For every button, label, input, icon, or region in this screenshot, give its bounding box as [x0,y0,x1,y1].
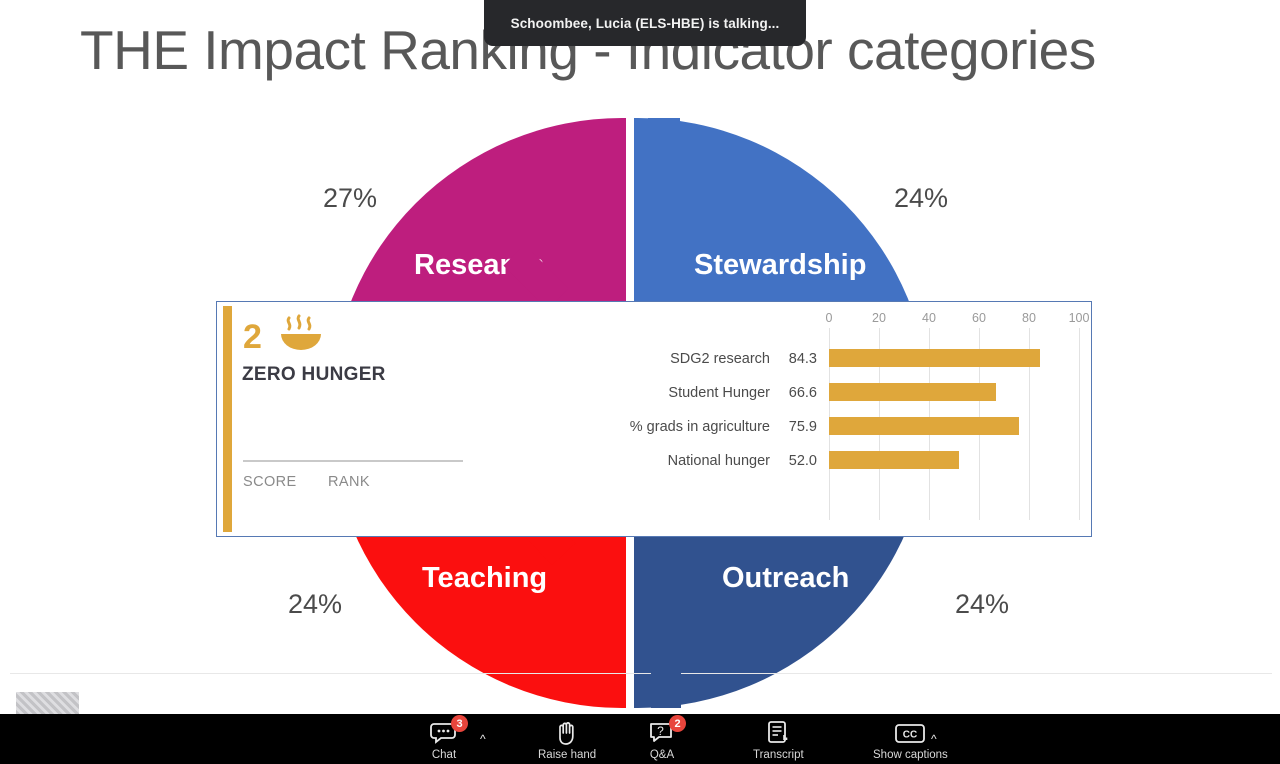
chart-bar [829,417,1019,435]
sdg-rank-label: RANK [328,474,370,490]
chart-row: SDG2 research84.3 [547,344,1092,378]
wheel-label-stewardship: Stewardship [694,249,866,282]
chart-category-label: National hunger [668,453,770,469]
sdg-number: 2 [243,320,262,354]
active-speaker-toast: Schoombee, Lucia (ELS-HBE) is talking... [484,0,806,46]
chart-value-label: 52.0 [779,453,817,469]
wheel-label-teaching: Teaching [422,562,547,595]
toolbar-button-raise-hand[interactable]: Raise hand [538,718,596,764]
qanda-icon: ? 2 [645,718,679,748]
svg-text:?: ? [657,724,664,738]
chart-category-label: Student Hunger [668,385,770,401]
chart-row: Student Hunger66.6 [547,378,1092,412]
qanda-badge: 2 [669,715,686,732]
wheel-label-research: Research [414,249,545,282]
chart-xtick-label: 80 [1022,311,1036,325]
caption-chevron-up-icon[interactable]: ^ [931,732,937,746]
redacted-logo [16,692,79,714]
sdg-indicator-panel: 2 ZERO HUNGER SCORE RANK 020406080100 SD… [216,301,1092,537]
toolbar-label-raise-hand: Raise hand [538,749,596,761]
chart-row: % grads in agriculture75.9 [547,412,1092,446]
toolbar-label-closed-caption: Show captions [873,749,948,761]
closed-caption-icon: CC [893,718,927,748]
toolbar-button-qanda[interactable]: ? 2 Q&A [645,718,679,764]
toolbar-label-transcript: Transcript [753,749,804,761]
chart-category-label: SDG2 research [670,351,770,367]
chat-icon: 3 [427,718,461,748]
chart-xtick-label: 40 [922,311,936,325]
sdg-title: ZERO HUNGER [242,364,386,386]
chart-bar [829,383,996,401]
meeting-toolbar: 3 Chat ^ Raise hand ? 2 Q&A [0,714,1280,764]
chart-xtick-label: 0 [826,311,833,325]
percent-teaching: 24% [288,589,342,620]
chart-bar [829,451,959,469]
toolbar-button-transcript[interactable]: Transcript [753,718,804,764]
chart-row: National hunger52.0 [547,446,1092,480]
percent-stewardship: 24% [894,183,948,214]
chat-chevron-up-icon[interactable]: ^ [480,732,486,746]
toolbar-label-chat: Chat [432,749,456,761]
chart-value-label: 75.9 [779,419,817,435]
bowl-steam-icon [275,314,327,358]
sdg-score-label: SCORE [243,474,297,490]
chart-category-label: % grads in agriculture [630,419,770,435]
presentation-viewer: THE Impact Ranking - Indicator categorie… [0,0,1280,764]
slide-footer-divider [10,673,1272,674]
transcript-icon [761,718,795,748]
chart-xtick-label: 20 [872,311,886,325]
chart-bar [829,349,1040,367]
percent-outreach: 24% [955,589,1009,620]
percent-research: 27% [323,183,377,214]
toolbar-label-qanda: Q&A [650,749,674,761]
chart-xtick-label: 60 [972,311,986,325]
sdg-card: 2 ZERO HUNGER SCORE RANK [217,302,521,536]
indicator-bar-chart: 020406080100 SDG2 research84.3Student Hu… [547,302,1092,536]
toolbar-button-chat[interactable]: 3 Chat [427,718,461,764]
chart-value-label: 84.3 [779,351,817,367]
sdg-divider [243,460,463,462]
chat-badge: 3 [451,715,468,732]
raise-hand-icon [550,718,584,748]
svg-text:CC: CC [903,730,917,741]
wheel-label-outreach: Outreach [722,562,849,595]
chart-xtick-label: 100 [1069,311,1090,325]
sdg-accent-stripe [223,306,232,532]
chart-value-label: 66.6 [779,385,817,401]
